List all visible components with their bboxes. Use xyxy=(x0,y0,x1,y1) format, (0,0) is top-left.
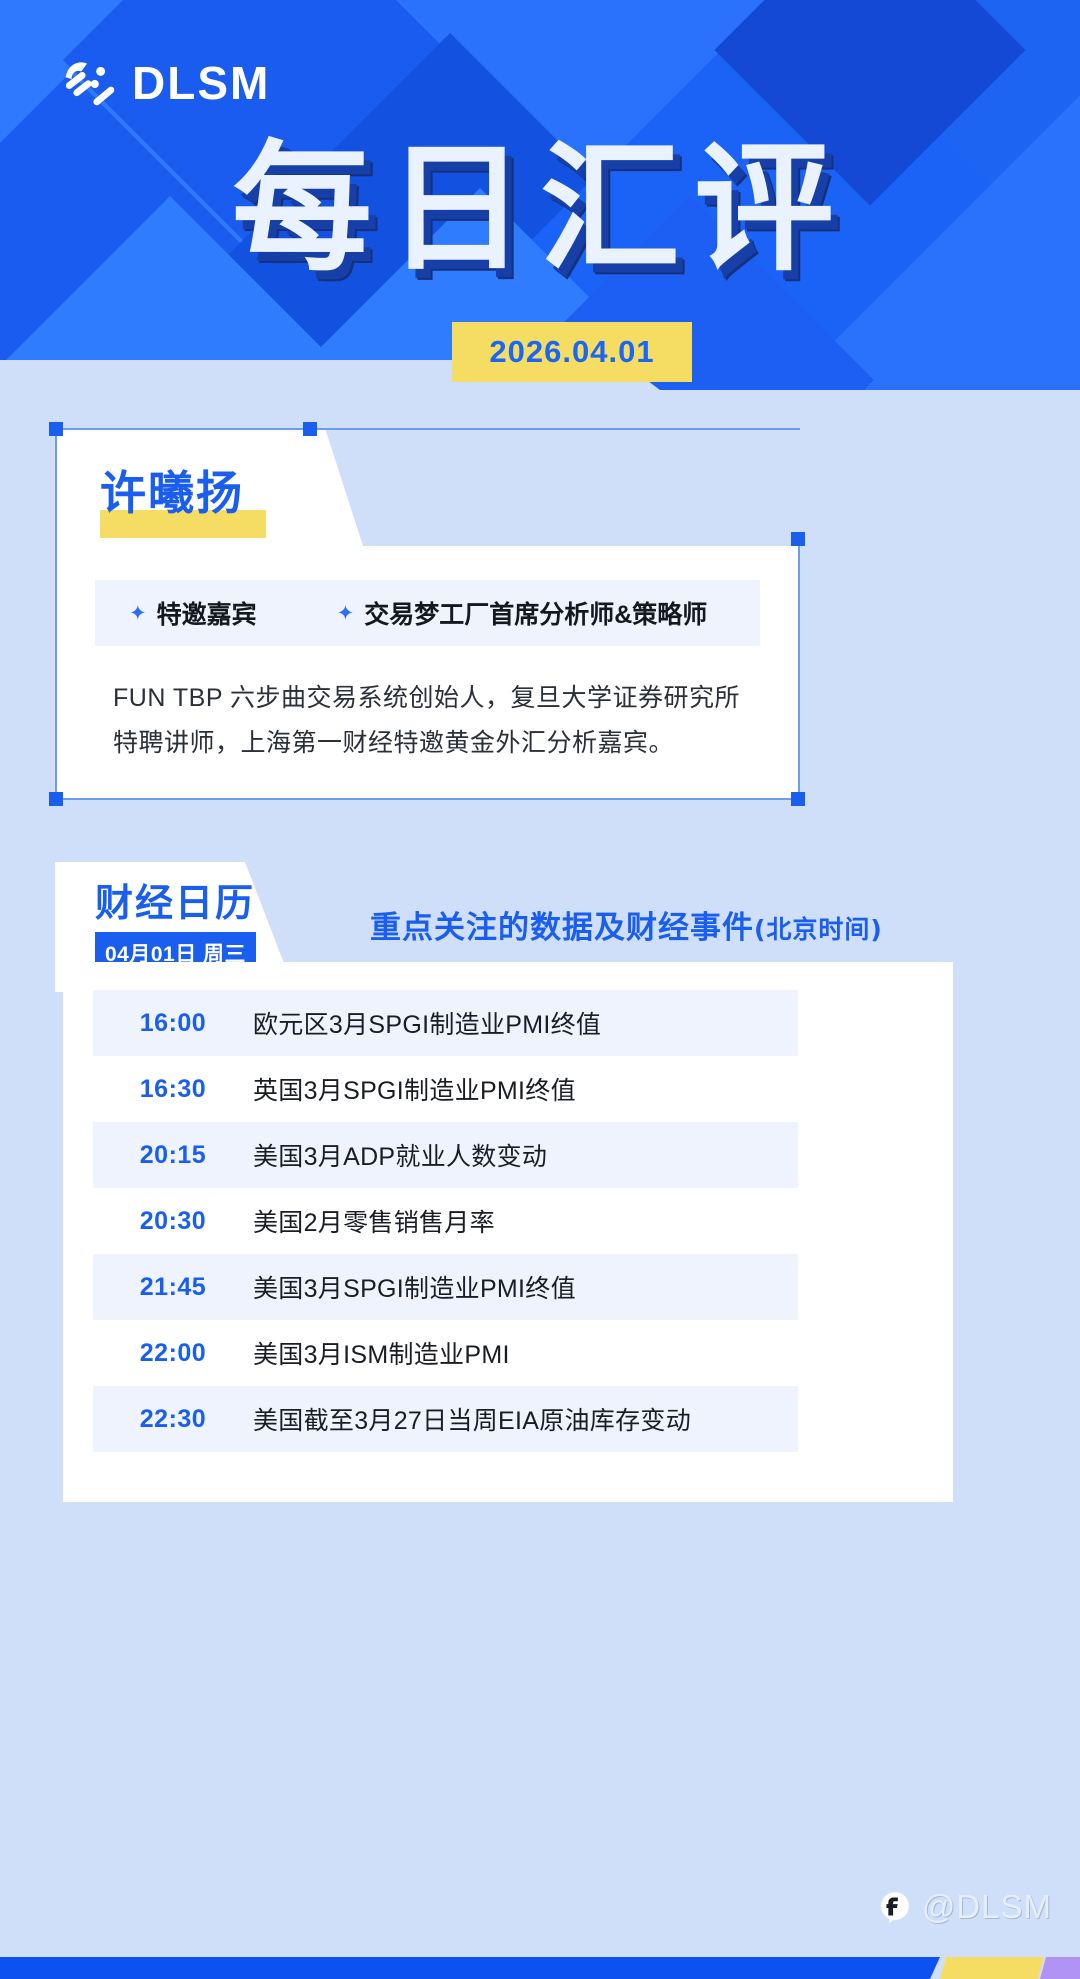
calendar-title: 财经日历 xyxy=(95,884,256,922)
calendar-body: 16:00欧元区3月SPGI制造业PMI终值16:30英国3月SPGI制造业PM… xyxy=(63,962,953,1502)
page-title: 每日汇评 xyxy=(0,140,1080,280)
brand-logo-text: DLSM xyxy=(132,60,270,106)
calendar-row: 22:00美国3月ISM制造业PMI xyxy=(93,1320,798,1386)
financial-calendar: 财经日历 04月01日 周三 重点关注的数据及财经事件(北京时间) 16:00欧… xyxy=(55,862,960,1502)
hero-date-text: 2026.04.01 xyxy=(489,334,654,370)
corner-marker-right-top xyxy=(791,532,805,546)
calendar-title-block: 财经日历 04月01日 周三 xyxy=(95,884,256,974)
expert-bio: FUN TBP 六步曲交易系统创始人，复旦大学证券研究所特聘讲师，上海第一财经特… xyxy=(113,676,753,765)
calendar-row-time: 16:00 xyxy=(93,1009,253,1038)
hero-date-badge: 2026.04.01 xyxy=(452,322,692,382)
dlsm-glyph-icon xyxy=(58,52,120,114)
calendar-row-time: 16:30 xyxy=(93,1075,253,1104)
corner-marker-bottom-right xyxy=(791,792,805,806)
calendar-subtitle: 重点关注的数据及财经事件(北京时间) xyxy=(370,902,883,947)
expert-frame-bottom xyxy=(55,798,800,800)
calendar-row: 22:30 美国截至3月27日当周EIA原油库存变动 xyxy=(93,1386,798,1452)
bottom-bar-blue xyxy=(0,1957,940,1979)
calendar-timezone-note: (北京时间) xyxy=(754,915,883,944)
expert-card: 许曦扬 ✦ 特邀嘉宾 ✦ 交易梦工厂首席分析师&策略师 FUN TBP 六步曲交… xyxy=(55,428,800,800)
calendar-row-event: 英国3月SPGI制造业PMI终值 xyxy=(253,1071,576,1107)
watermark-text: @DLSM xyxy=(922,1888,1052,1926)
calendar-row: 20:15美国3月ADP就业人数变动 xyxy=(93,1122,798,1188)
calendar-row: 16:00欧元区3月SPGI制造业PMI终值 xyxy=(93,990,798,1056)
bottom-bar-purple xyxy=(1040,1957,1080,1979)
corner-marker-top-left xyxy=(49,422,63,436)
expert-tag-1: ✦ 交易梦工厂首席分析师&策略师 xyxy=(337,595,708,631)
calendar-row-event: 美国3月ISM制造业PMI xyxy=(253,1335,510,1371)
sparkle-icon: ✦ xyxy=(337,603,355,624)
expert-name-block: 许曦扬 xyxy=(100,470,244,516)
expert-tag-bar: ✦ 特邀嘉宾 ✦ 交易梦工厂首席分析师&策略师 xyxy=(95,580,760,646)
expert-frame-right xyxy=(798,538,800,800)
bottom-accent-bar xyxy=(0,1957,1080,1979)
calendar-row-event: 美国3月SPGI制造业PMI终值 xyxy=(253,1269,576,1305)
calendar-row-list: 16:00欧元区3月SPGI制造业PMI终值16:30英国3月SPGI制造业PM… xyxy=(93,990,798,1452)
calendar-row-event: 欧元区3月SPGI制造业PMI终值 xyxy=(253,1005,601,1041)
calendar-row: 21:45美国3月SPGI制造业PMI终值 xyxy=(93,1254,798,1320)
calendar-row-time: 22:30 xyxy=(93,1405,253,1434)
footer-watermark: @DLSM xyxy=(876,1888,1052,1926)
brand-logo: DLSM xyxy=(58,52,270,114)
calendar-subtitle-text: 重点关注的数据及财经事件 xyxy=(370,910,754,946)
sparkle-icon: ✦ xyxy=(129,603,147,624)
expert-name: 许曦扬 xyxy=(100,470,244,516)
calendar-row-time: 20:15 xyxy=(93,1141,253,1170)
expert-tag-label: 交易梦工厂首席分析师&策略师 xyxy=(364,595,707,631)
calendar-row-time: 22:00 xyxy=(93,1339,253,1368)
bottom-bar-yellow xyxy=(940,1957,1044,1979)
calendar-row: 20:30美国2月零售销售月率 xyxy=(93,1188,798,1254)
calendar-row-event: 美国3月ADP就业人数变动 xyxy=(253,1137,547,1173)
calendar-row-event: 美国2月零售销售月率 xyxy=(253,1203,495,1239)
calendar-row-time: 20:30 xyxy=(93,1207,253,1236)
calendar-row: 16:30英国3月SPGI制造业PMI终值 xyxy=(93,1056,798,1122)
calendar-row-event: 美国截至3月27日当周EIA原油库存变动 xyxy=(253,1401,691,1437)
expert-tag-0: ✦ 特邀嘉宾 xyxy=(129,595,257,631)
corner-marker-top-right xyxy=(303,422,317,436)
calendar-row-time: 21:45 xyxy=(93,1273,253,1302)
corner-marker-bottom-left xyxy=(49,792,63,806)
expert-tag-label: 特邀嘉宾 xyxy=(157,595,257,631)
toutiao-f-icon xyxy=(876,1888,914,1926)
